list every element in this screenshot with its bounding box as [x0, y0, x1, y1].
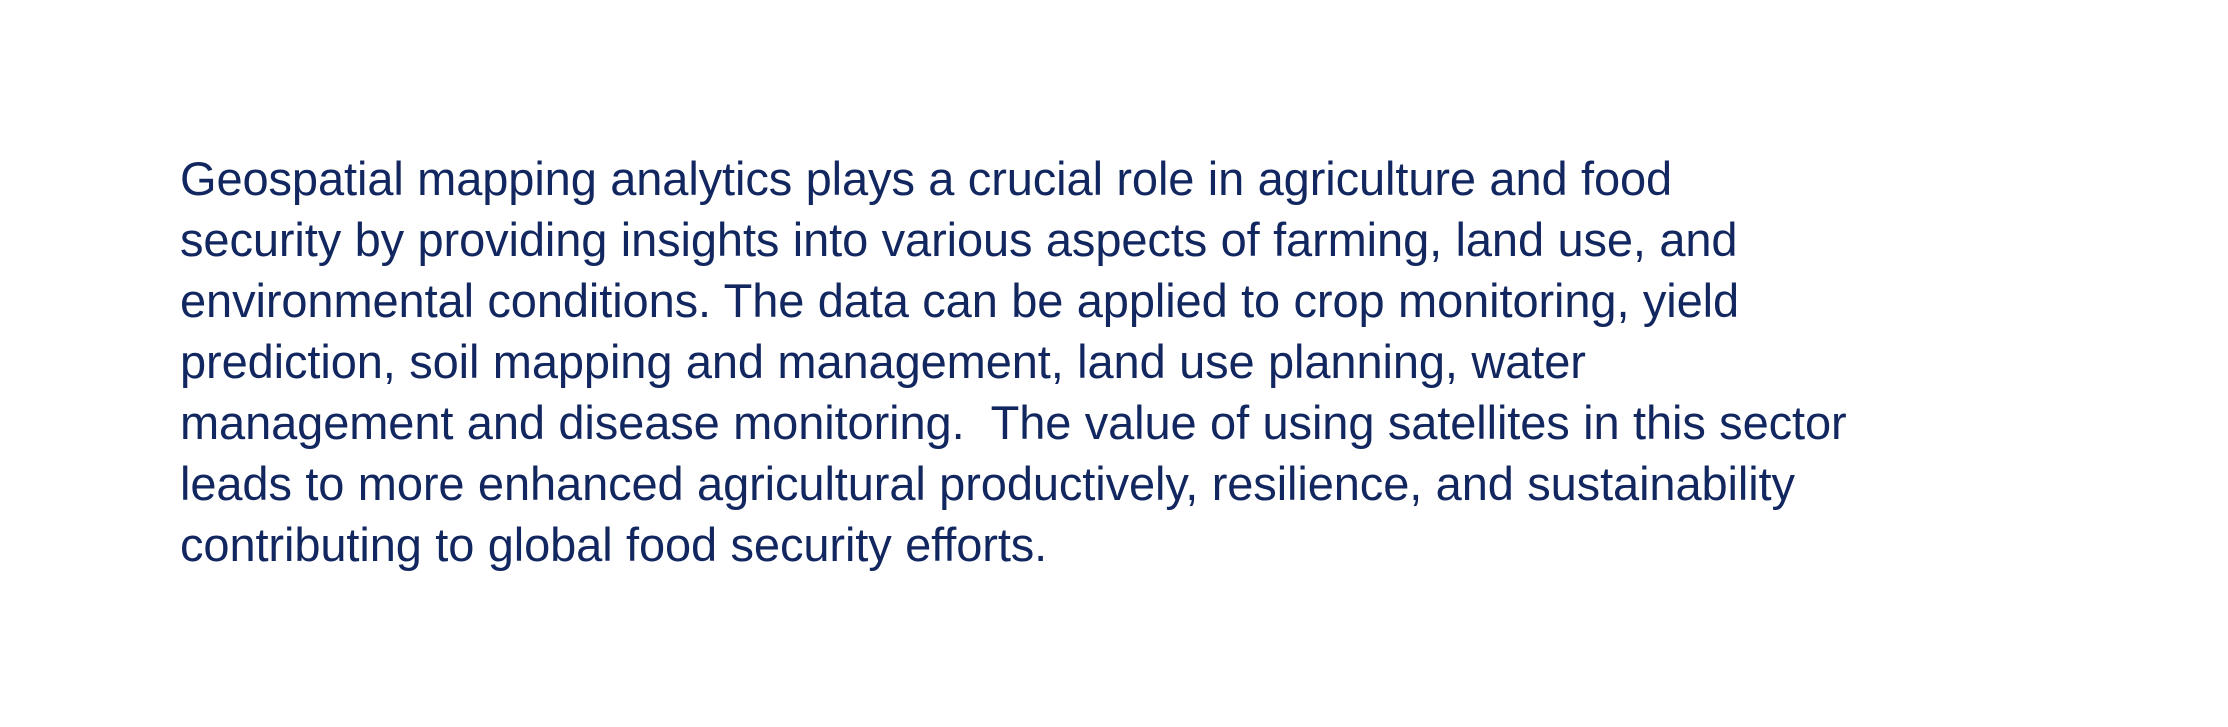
page-canvas: Geospatial mapping analytics plays a cru…: [0, 0, 2228, 727]
body-paragraph: Geospatial mapping analytics plays a cru…: [180, 148, 2080, 575]
paragraph-block: Geospatial mapping analytics plays a cru…: [180, 148, 2080, 575]
